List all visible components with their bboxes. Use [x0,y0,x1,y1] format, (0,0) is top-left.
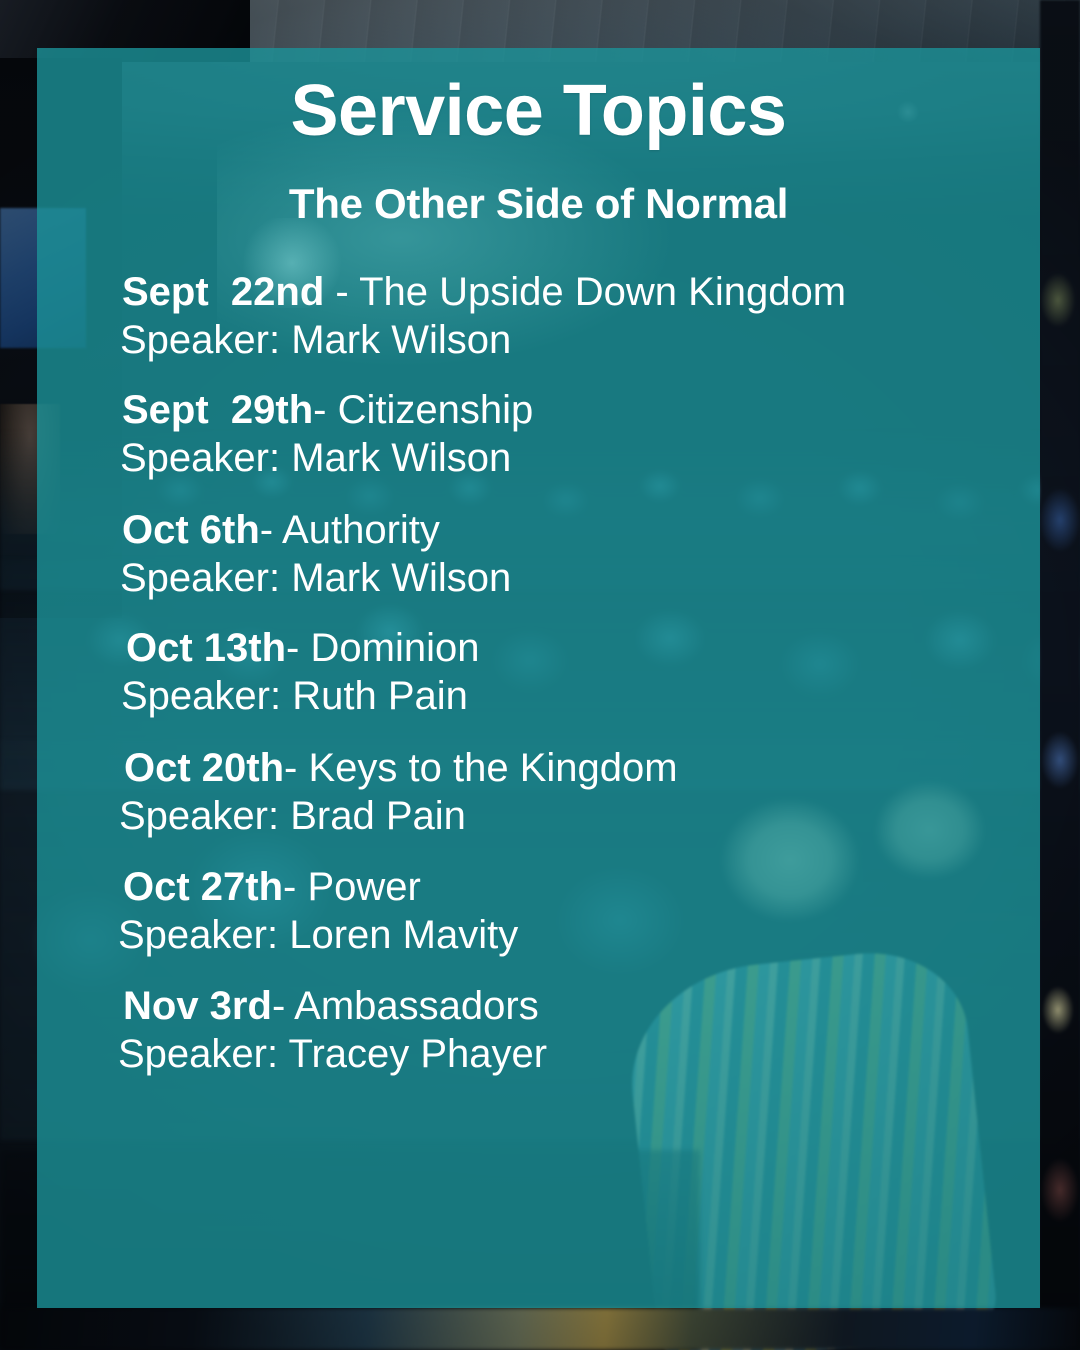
entry-separator: - [272,984,294,1028]
entry-date: Oct 20th [124,746,284,790]
entry-speaker: Speaker: Mark Wilson [120,434,1040,483]
entry-speaker: Speaker: Loren Mavity [118,911,1040,960]
entry-separator: - [313,388,337,432]
entry-speaker: Speaker: Mark Wilson [120,316,1040,365]
entry-topic: Citizenship [338,388,534,432]
service-topics-list: Sept 22nd - The Upside Down Kingdom Spea… [37,225,1040,1079]
list-item: Oct 6th- Authority Speaker: Mark Wilson [37,507,1040,603]
entry-date: Oct 27th [123,865,283,909]
list-item: Nov 3rd- Ambassadors Speaker: Tracey Pha… [37,983,1040,1079]
entry-headline: Oct 13th- Dominion [126,625,1040,672]
entry-separator: - [286,626,310,670]
entry-speaker: Speaker: Tracey Phayer [118,1030,1040,1079]
entry-topic: Authority [282,508,440,552]
entry-separator: - [283,865,307,909]
teal-overlay-panel: Service Topics The Other Side of Normal … [37,48,1040,1308]
entry-headline: Oct 6th- Authority [122,507,1040,554]
entry-date: Sept 22nd [122,270,324,314]
entry-headline: Oct 20th- Keys to the Kingdom [124,745,1040,792]
list-item: Oct 20th- Keys to the Kingdom Speaker: B… [37,745,1040,841]
entry-separator: - [260,508,282,552]
entry-headline: Oct 27th- Power [123,864,1040,911]
entry-separator: - [324,270,359,314]
entry-date: Nov 3rd [123,984,272,1028]
entry-topic: Power [307,865,420,909]
poster-content: Service Topics The Other Side of Normal … [37,48,1040,1079]
entry-date: Oct 6th [122,508,260,552]
entry-headline: Sept 22nd - The Upside Down Kingdom [122,269,1040,316]
entry-topic: Ambassadors [294,984,539,1028]
page-subtitle: The Other Side of Normal [37,147,1040,225]
poster-canvas: Service Topics The Other Side of Normal … [0,0,1080,1350]
entry-headline: Nov 3rd- Ambassadors [123,983,1040,1030]
entry-speaker: Speaker: Ruth Pain [121,672,1040,721]
list-item: Sept 29th- Citizenship Speaker: Mark Wil… [37,387,1040,483]
entry-topic: The Upside Down Kingdom [359,270,846,314]
list-item: Oct 13th- Dominion Speaker: Ruth Pain [37,625,1040,721]
entry-date: Oct 13th [126,626,286,670]
entry-separator: - [284,746,308,790]
entry-topic: Dominion [310,626,479,670]
list-item: Sept 22nd - The Upside Down Kingdom Spea… [37,269,1040,365]
page-title: Service Topics [37,48,1040,147]
entry-headline: Sept 29th- Citizenship [122,387,1040,434]
list-item: Oct 27th- Power Speaker: Loren Mavity [37,864,1040,960]
entry-speaker: Speaker: Brad Pain [119,792,1040,841]
entry-topic: Keys to the Kingdom [308,746,677,790]
entry-date: Sept 29th [122,388,313,432]
entry-speaker: Speaker: Mark Wilson [120,554,1040,603]
